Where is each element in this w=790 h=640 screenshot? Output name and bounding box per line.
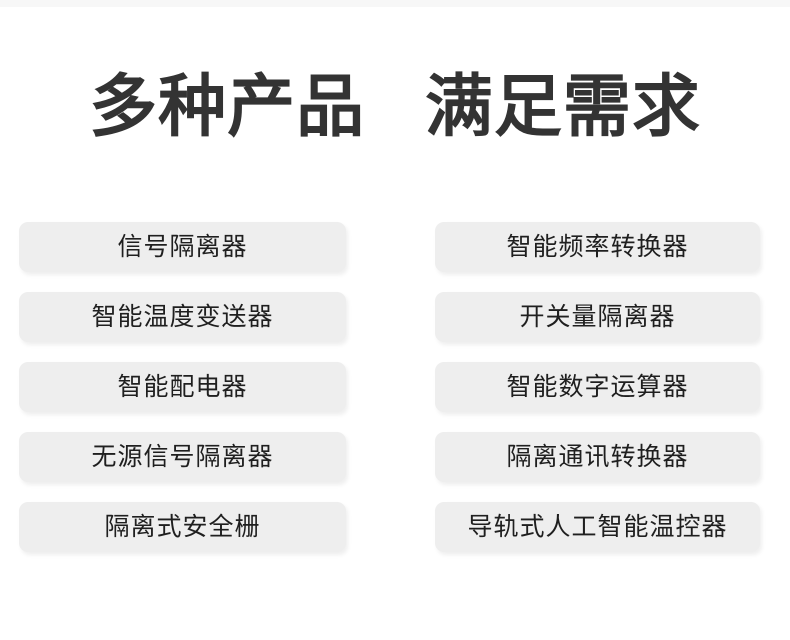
product-chip-label: 开关量隔离器 [519,305,675,330]
product-chip-isolated-safety-barrier[interactable]: 隔离式安全栅 [19,502,346,552]
product-chip-smart-temperature-transmitter[interactable]: 智能温度变送器 [19,292,346,342]
product-chip-label: 导轨式人工智能温控器 [467,515,727,540]
product-column-right: 智能频率转换器 开关量隔离器 智能数字运算器 隔离通讯转换器 导轨式人工智能温控… [434,222,760,552]
product-chip-label: 隔离通讯转换器 [506,445,688,470]
product-chip-signal-isolator[interactable]: 信号隔离器 [19,222,346,272]
product-chip-label: 智能数字运算器 [506,375,688,400]
product-categories-page: 多种产品 满足需求 信号隔离器 智能温度变送器 智能配电器 无源信号隔离器 隔离… [0,0,790,640]
page-title: 多种产品 满足需求 [0,64,790,150]
product-chip-label: 隔离式安全栅 [104,515,260,540]
product-chip-smart-frequency-converter[interactable]: 智能频率转换器 [435,222,760,272]
top-divider-strip [0,0,790,7]
product-column-left: 信号隔离器 智能温度变送器 智能配电器 无源信号隔离器 隔离式安全栅 [19,222,346,552]
product-chip-label: 智能配电器 [117,375,247,400]
product-chip-switch-quantity-isolator[interactable]: 开关量隔离器 [435,292,760,342]
product-chip-smart-digital-operator[interactable]: 智能数字运算器 [435,362,760,412]
product-chip-label: 无源信号隔离器 [91,445,273,470]
product-chip-smart-power-distributor[interactable]: 智能配电器 [19,362,346,412]
product-chip-passive-signal-isolator[interactable]: 无源信号隔离器 [19,432,346,482]
product-chip-grid: 信号隔离器 智能温度变送器 智能配电器 无源信号隔离器 隔离式安全栅 智能频率转… [19,222,760,552]
product-chip-label: 智能频率转换器 [506,235,688,260]
product-chip-label: 信号隔离器 [117,235,247,260]
product-chip-isolated-communication-converter[interactable]: 隔离通讯转换器 [435,432,760,482]
product-chip-din-rail-ai-temperature-controller[interactable]: 导轨式人工智能温控器 [435,502,760,552]
product-chip-label: 智能温度变送器 [91,305,273,330]
